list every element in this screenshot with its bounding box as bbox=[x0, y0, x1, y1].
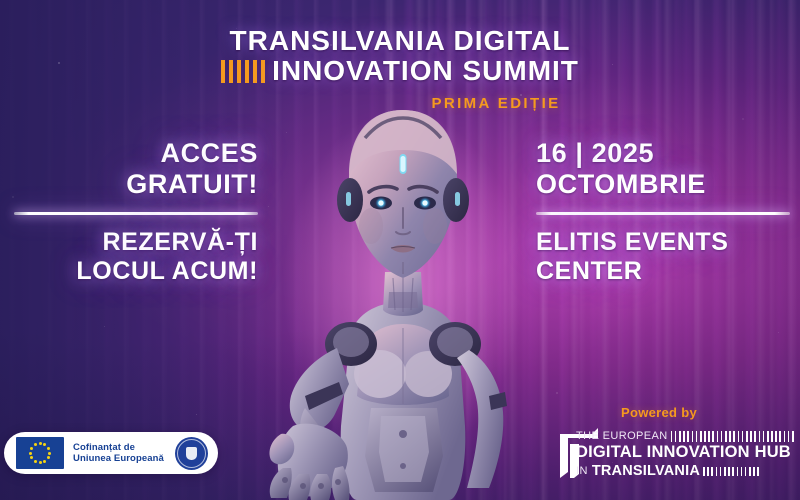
right-line-2: OCTOMBRIE bbox=[536, 169, 800, 200]
right-divider bbox=[536, 212, 790, 215]
hatch-marks-icon-2 bbox=[703, 467, 762, 476]
hatch-bar bbox=[775, 431, 777, 442]
powered-by-block: Powered by THE EUROPEAN DIGITAL INNOVATI… bbox=[554, 405, 800, 484]
edih-row-2: DIGITAL INNOVATION HUB bbox=[576, 443, 800, 462]
hatch-bar bbox=[716, 467, 718, 476]
left-text-block: ACCES GRATUIT! REZERVĂ-ȚI LOCUL ACUM! bbox=[0, 138, 272, 286]
tick-bar bbox=[245, 60, 249, 83]
hatch-bar bbox=[696, 431, 698, 442]
sparkle bbox=[196, 414, 197, 415]
android-robot-illustration bbox=[253, 96, 553, 500]
eu-star bbox=[43, 443, 46, 446]
eu-cofinancing-badge: Cofinanțat de Uniunea Europeană bbox=[4, 432, 218, 474]
hatch-bar bbox=[683, 431, 685, 442]
tick-bar bbox=[261, 60, 265, 83]
orange-tick-marks-icon bbox=[221, 60, 265, 83]
edih-logo-rows: THE EUROPEAN DIGITAL INNOVATION HUB IN T… bbox=[576, 430, 800, 479]
hatch-bar bbox=[792, 431, 794, 442]
hatch-bar bbox=[741, 467, 743, 476]
eu-star bbox=[39, 461, 42, 464]
hatch-bar bbox=[692, 431, 694, 442]
hatch-bar bbox=[720, 467, 722, 476]
right-text-block: 16 | 2025 OCTOMBRIE ELITIS EVENTS CENTER bbox=[522, 138, 800, 286]
hatch-bar bbox=[737, 467, 739, 476]
hatch-bar bbox=[754, 431, 756, 442]
hatch-bar bbox=[757, 467, 759, 476]
sparkle bbox=[104, 326, 105, 327]
romania-government-seal-icon bbox=[175, 437, 208, 470]
hatch-bar bbox=[746, 431, 748, 442]
hatch-bar bbox=[728, 467, 730, 476]
event-poster: TRANSILVANIA DIGITAL INNOVATION SUMMIT P… bbox=[0, 0, 800, 500]
eu-star bbox=[39, 442, 42, 445]
eu-star bbox=[30, 447, 33, 450]
eu-star bbox=[34, 460, 37, 463]
edih-logo: THE EUROPEAN DIGITAL INNOVATION HUB IN T… bbox=[554, 426, 800, 484]
hatch-bar bbox=[679, 431, 681, 442]
hatch-bar bbox=[671, 431, 673, 442]
title-line-2-row: INNOVATION SUMMIT bbox=[0, 56, 800, 86]
right-line-3: ELITIS EVENTS bbox=[536, 228, 800, 257]
hatch-bar bbox=[733, 431, 735, 442]
tick-bar bbox=[221, 60, 225, 83]
edih-line-2: DIGITAL INNOVATION HUB bbox=[576, 443, 791, 462]
hatch-bar bbox=[717, 431, 719, 442]
edih-row-1: THE EUROPEAN bbox=[576, 430, 800, 442]
eu-star bbox=[47, 456, 50, 459]
hatch-bar bbox=[784, 431, 786, 442]
right-line-4: CENTER bbox=[536, 257, 800, 286]
hatch-bar bbox=[704, 431, 706, 442]
hatch-bar bbox=[767, 431, 769, 442]
sparkle bbox=[778, 332, 779, 333]
eu-star bbox=[48, 452, 51, 455]
hatch-bar bbox=[707, 467, 709, 476]
tick-bar bbox=[229, 60, 233, 83]
eu-star bbox=[47, 447, 50, 450]
hatch-bar bbox=[763, 431, 765, 442]
hatch-bar bbox=[721, 431, 723, 442]
hatch-bar bbox=[742, 431, 744, 442]
hatch-bar bbox=[711, 467, 713, 476]
eu-badge-line-2: Uniunea Europeană bbox=[73, 453, 166, 465]
left-line-4: LOCUL ACUM! bbox=[0, 257, 258, 286]
right-line-1: 16 | 2025 bbox=[536, 138, 800, 169]
title-line-2: INNOVATION SUMMIT bbox=[272, 56, 579, 86]
hatch-bar bbox=[732, 467, 734, 476]
hatch-bar bbox=[753, 467, 755, 476]
sparkle bbox=[742, 118, 744, 120]
eu-star bbox=[30, 456, 33, 459]
hatch-bar bbox=[788, 431, 790, 442]
hatch-bar bbox=[750, 431, 752, 442]
seal-ring bbox=[177, 439, 206, 468]
eu-star bbox=[43, 460, 46, 463]
edih-line-3-thin: IN bbox=[576, 465, 588, 477]
hatch-bar bbox=[771, 431, 773, 442]
hatch-bar bbox=[725, 431, 727, 442]
title-line-1: TRANSILVANIA DIGITAL bbox=[0, 26, 800, 56]
left-line-1: ACCES bbox=[0, 138, 258, 169]
sparkle bbox=[556, 392, 558, 394]
hatch-bar bbox=[700, 431, 702, 442]
hatch-marks-icon-1 bbox=[671, 431, 797, 442]
tick-bar bbox=[253, 60, 257, 83]
hatch-bar bbox=[675, 431, 677, 442]
eu-star bbox=[34, 443, 37, 446]
poster-headline: TRANSILVANIA DIGITAL INNOVATION SUMMIT P… bbox=[0, 26, 800, 112]
edih-line-1: THE EUROPEAN bbox=[576, 430, 668, 442]
hatch-bar bbox=[738, 431, 740, 442]
hatch-bar bbox=[779, 431, 781, 442]
poster-subtitle: PRIMA EDIȚIE bbox=[96, 95, 800, 112]
hatch-bar bbox=[687, 431, 689, 442]
hatch-bar bbox=[729, 431, 731, 442]
hatch-bar bbox=[745, 467, 747, 476]
left-line-2: GRATUIT! bbox=[0, 169, 258, 200]
hatch-bar bbox=[749, 467, 751, 476]
left-line-3: REZERVĂ-ȚI bbox=[0, 228, 258, 257]
hatch-bar bbox=[712, 431, 714, 442]
eu-badge-line-1: Cofinanțat de bbox=[73, 442, 166, 454]
left-divider bbox=[14, 212, 258, 215]
hatch-bar bbox=[724, 467, 726, 476]
eu-star bbox=[29, 452, 32, 455]
edih-row-3: IN TRANSILVANIA bbox=[576, 463, 800, 479]
hatch-bar bbox=[703, 467, 705, 476]
hatch-bar bbox=[708, 431, 710, 442]
tick-bar bbox=[237, 60, 241, 83]
hatch-bar bbox=[759, 431, 761, 442]
edih-line-3-bold: TRANSILVANIA bbox=[592, 463, 700, 479]
eu-flag-icon bbox=[16, 437, 64, 469]
eu-badge-text: Cofinanțat de Uniunea Europeană bbox=[73, 442, 166, 465]
powered-by-label: Powered by bbox=[554, 405, 800, 420]
